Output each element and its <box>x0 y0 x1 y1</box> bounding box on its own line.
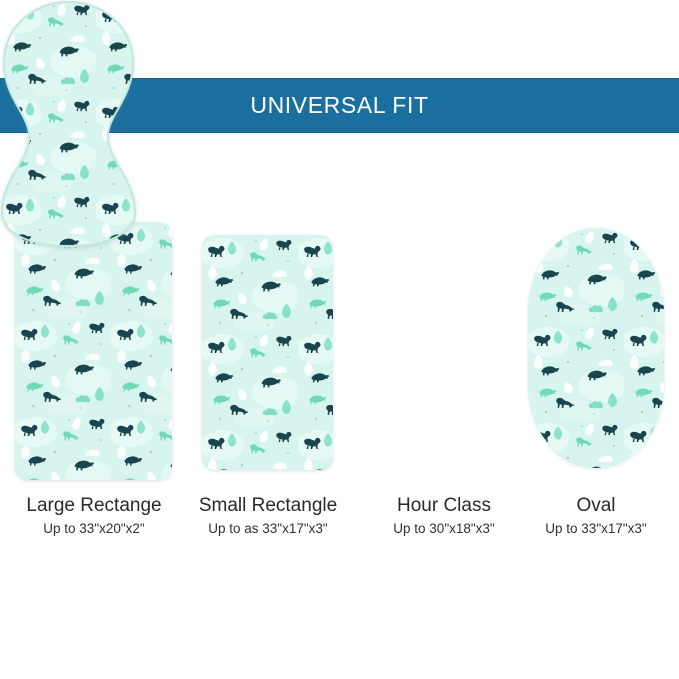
product-shape-oval <box>528 228 664 468</box>
fabric-swatch-oval <box>528 228 664 468</box>
product-dimensions-small-rectangle: Up to as 33"x17"x3" <box>182 519 354 538</box>
product-title-hour-class: Hour Class <box>358 494 530 517</box>
product-title-oval: Oval <box>508 494 679 517</box>
product-title-large-rectangle: Large Rectange <box>8 494 180 517</box>
product-title-small-rectangle: Small Rectangle <box>182 494 354 517</box>
product-dimensions-oval: Up to 33"x17"x3" <box>508 519 679 538</box>
product-label-large-rectangle: Large Rectange Up to 33"x20"x2" <box>8 494 180 538</box>
product-dimensions-hour-class: Up to 30"x18"x3" <box>358 519 530 538</box>
fabric-swatch-hour-class <box>0 0 137 248</box>
product-label-oval: Oval Up to 33"x17"x3" <box>508 494 679 538</box>
product-dimensions-large-rectangle: Up to 33"x20"x2" <box>8 519 180 538</box>
product-label-hour-class: Hour Class Up to 30"x18"x3" <box>358 494 530 538</box>
product-shape-hour-class <box>0 0 137 248</box>
product-label-small-rectangle: Small Rectangle Up to as 33"x17"x3" <box>182 494 354 538</box>
